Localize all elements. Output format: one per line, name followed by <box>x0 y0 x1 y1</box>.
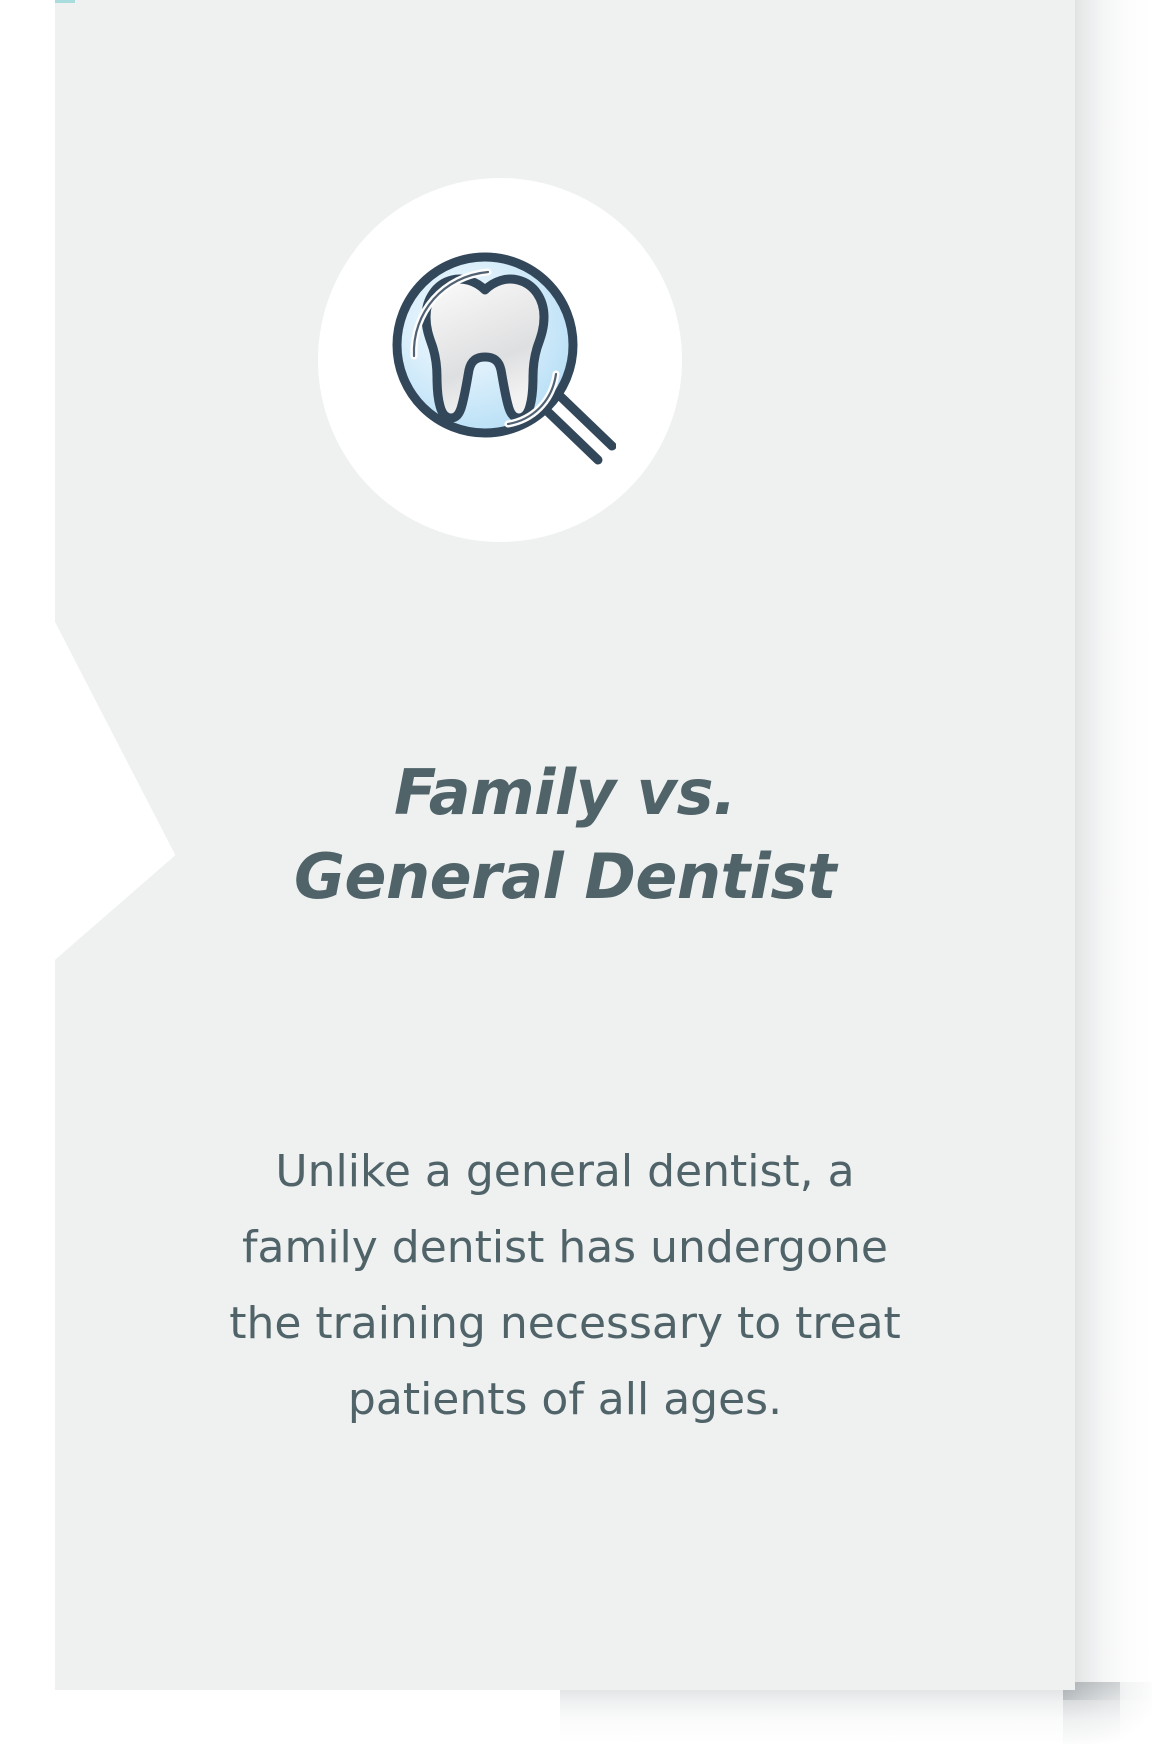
card-title-line-2: General Dentist <box>55 835 1075 919</box>
info-card[interactable]: Family vs. General Dentist Unlike a gene… <box>55 0 1075 1690</box>
card-accent-bar <box>55 0 75 3</box>
card-body-line-2: family dentist has undergone <box>100 1210 1030 1286</box>
tooth-magnifier-icon <box>384 244 616 476</box>
card-body-text: Unlike a general dentist, a family denti… <box>100 1134 1030 1438</box>
card-body-line-1: Unlike a general dentist, a <box>100 1134 1030 1210</box>
card-title-line-1: Family vs. <box>55 751 1075 835</box>
card-shadow-bottom <box>560 1682 1120 1744</box>
icon-medallion <box>318 178 682 542</box>
card-shadow-corner <box>1063 1682 1152 1744</box>
card-body-line-4: patients of all ages. <box>100 1362 1030 1438</box>
card-title: Family vs. General Dentist <box>55 751 1075 919</box>
card-shadow-right <box>1063 0 1152 1700</box>
card-body-line-3: the training necessary to treat <box>100 1286 1030 1362</box>
page-stage: Family vs. General Dentist Unlike a gene… <box>0 0 1152 1749</box>
